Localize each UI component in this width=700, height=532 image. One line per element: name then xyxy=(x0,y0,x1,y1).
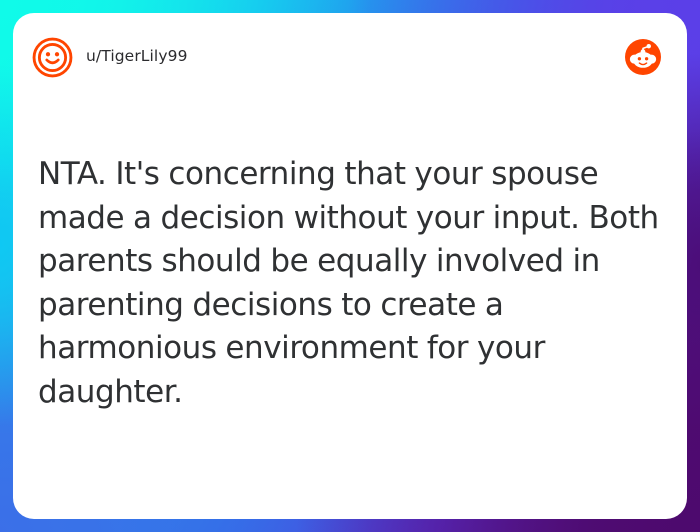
comment-text: NTA. It's concerning that your spouse ma… xyxy=(38,153,662,414)
author-block[interactable]: u/TigerLily99 xyxy=(32,37,625,78)
reddit-snoo-logo-icon[interactable] xyxy=(625,39,661,75)
comment-card-header: u/TigerLily99 xyxy=(13,13,687,101)
author-username: u/TigerLily99 xyxy=(86,49,188,65)
smiley-face-avatar-icon[interactable] xyxy=(32,37,73,78)
comment-card: u/TigerLily99 NTA. It's concerning that … xyxy=(13,13,687,519)
screenshot-canvas: u/TigerLily99 NTA. It's concerning that … xyxy=(0,0,700,532)
